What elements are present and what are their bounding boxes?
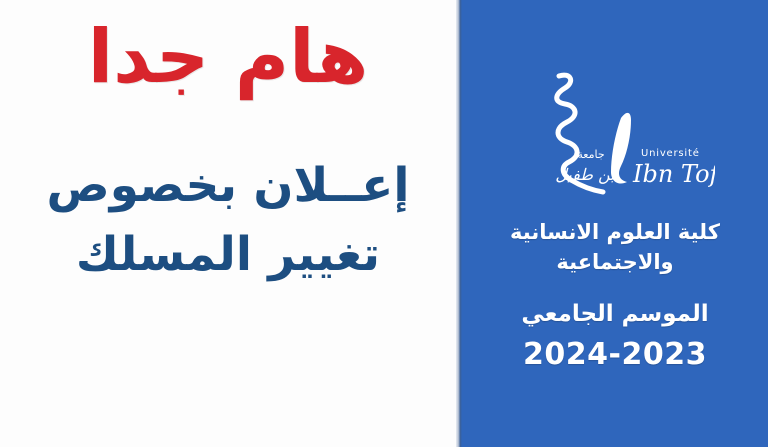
university-logo: جامعة بن طفيل Université Ibn Tofail [515,62,715,212]
academic-season-years: 2024-2023 [470,334,760,376]
announcement-text-panel: هام جدا إعــلان بخصوص تغيير المسلك [0,0,456,447]
announcement-subject: إعــلان بخصوص تغيير المسلك [0,155,456,285]
ibn-tofail-logo-icon: جامعة بن طفيل Université Ibn Tofail [515,62,715,212]
announcement-subject-line-2: تغيير المسلك [0,224,456,285]
logo-latin-ibn-tofail: Ibn Tofail [632,160,715,188]
announcement-poster: هام جدا إعــلان بخصوص تغيير المسلك جامعة… [0,0,768,447]
logo-arabic-jamia: جامعة [577,148,604,161]
headline-very-important: هام جدا [0,16,456,99]
announcement-subject-line-1: إعــلان بخصوص [0,155,456,216]
faculty-name: كلية العلوم الانسانية والاجتماعية [470,218,760,278]
academic-season: الموسم الجامعي 2024-2023 [470,298,760,376]
institution-panel: جامعة بن طفيل Université Ibn Tofail كلية… [462,0,768,447]
academic-season-label: الموسم الجامعي [470,298,760,330]
logo-latin-universite: Université [641,147,700,159]
logo-arabic-ibn-tofail: بن طفيل [555,165,615,184]
